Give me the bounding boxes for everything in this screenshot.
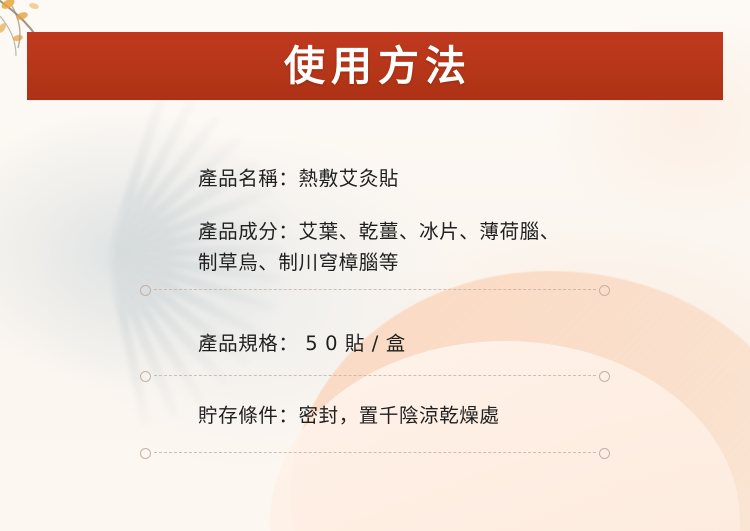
separator-1 xyxy=(140,285,610,294)
product-usage-poster: 使用方法 產品名稱：熱敷艾灸貼 產品成分：艾葉、乾薑、冰片、薄荷腦、 制草烏、制… xyxy=(0,0,750,531)
row-ingredients: 產品成分：艾葉、乾薑、冰片、薄荷腦、 制草烏、制川穹樟腦等 xyxy=(170,216,668,278)
separator-dot-right xyxy=(599,285,610,296)
header-band: 使用方法 xyxy=(27,32,723,100)
separator-line xyxy=(154,375,596,376)
row-product-name: 產品名稱：熱敷艾灸貼 xyxy=(170,163,668,194)
separator-dot-left xyxy=(140,448,151,459)
separator-dot-right xyxy=(599,448,610,459)
separator-3 xyxy=(140,448,610,457)
row-specification-text: 產品規格： 5 0 貼 / 盒 xyxy=(198,328,668,359)
separator-line xyxy=(154,452,596,453)
separator-dot-left xyxy=(140,371,151,382)
separator-2 xyxy=(140,371,610,380)
separator-line xyxy=(154,289,596,290)
row-product-name-text: 產品名稱：熱敷艾灸貼 xyxy=(198,163,668,194)
row-ingredients-text: 產品成分：艾葉、乾薑、冰片、薄荷腦、 制草烏、制川穹樟腦等 xyxy=(198,216,668,278)
separator-dot-right xyxy=(599,371,610,382)
row-storage: 貯存條件：密封，置千陰涼乾燥處 xyxy=(170,400,668,431)
separator-dot-left xyxy=(140,285,151,296)
page-title: 使用方法 xyxy=(27,32,723,100)
row-specification: 產品規格： 5 0 貼 / 盒 xyxy=(170,328,668,359)
row-storage-text: 貯存條件：密封，置千陰涼乾燥處 xyxy=(198,400,668,431)
